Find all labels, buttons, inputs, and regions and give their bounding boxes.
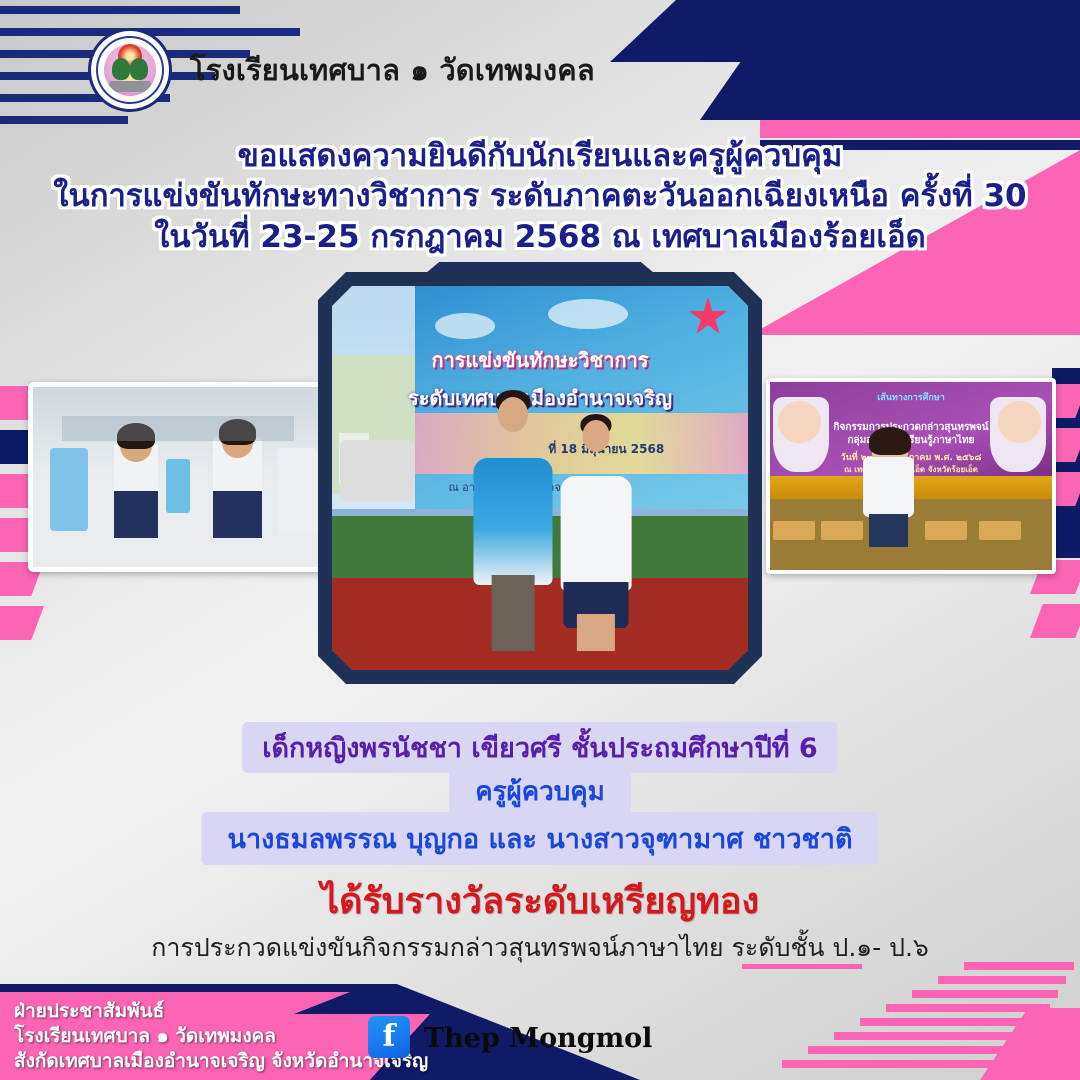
school-name: โรงเรียนเทศบาล ๑ วัดเทพมงคล [190, 47, 595, 93]
photo-center-image: การแข่งขันทักษะวิชาการ ระดับเทศบาลเมืองอ… [332, 286, 748, 670]
facebook-icon[interactable]: f [368, 1016, 410, 1058]
title-line-2: ในการแข่งขันทักษะทางวิชาการ ระดับภาคตะวั… [0, 176, 1080, 216]
right-photo-banner-line2: กลุ่มสาระการเรียนรู้ภาษาไทย [847, 433, 974, 448]
person-teacher [473, 397, 552, 650]
competition-detail-text: การประกวดแข่งขันกิจกรรมกล่าวสุนทรพจน์ภาษ… [151, 928, 929, 968]
footer-credit-block: ฝ่ายประชาสัมพันธ์ โรงเรียนเทศบาล ๑ วัดเท… [14, 999, 428, 1074]
person-student [561, 420, 632, 650]
poster-title: ขอแสดงความยินดีกับนักเรียนและครูผู้ควบคุ… [0, 136, 1080, 257]
footer-line-3: สังกัดเทศบาลเมืองอำนาจเจริญ จังหวัดอำนาจ… [14, 1049, 428, 1074]
school-seal-icon [88, 28, 172, 112]
photo-teacher-and-student: การแข่งขันทักษะวิชาการ ระดับเทศบาลเมืองอ… [318, 272, 762, 684]
photo-students-seated [28, 382, 328, 572]
title-line-1: ขอแสดงความยินดีกับนักเรียนและครูผู้ควบคุ… [0, 136, 1080, 176]
poster-header: โรงเรียนเทศบาล ๑ วัดเทพมงคล [88, 28, 595, 112]
teacher-names-bar: นางธมลพรรณ บุญกอ และ นางสาวจุฑามาศ ชาวชา… [202, 812, 879, 865]
footer-line-1: ฝ่ายประชาสัมพันธ์ [14, 999, 428, 1024]
top-navy-step-shape [610, 0, 830, 62]
right-photo-banner-title: เส้นทางการศึกษา [877, 390, 945, 404]
student-name-bar: เด็กหญิงพรนัชชา เขียวศรี ชั้นประถมศึกษาป… [242, 722, 837, 773]
poster-canvas: โรงเรียนเทศบาล ๑ วัดเทพมงคล ขอแสดงความยิ… [0, 0, 1080, 1080]
facebook-glyph: f [383, 1019, 396, 1054]
teacher-label-bar: ครูผู้ควบคุม [449, 768, 631, 815]
facebook-page-name[interactable]: Thep Mongmol [424, 1023, 652, 1054]
center-photo-banner-line1: การแข่งขันทักษะวิชาการ [431, 344, 648, 376]
photo-student-at-banner: เส้นทางการศึกษา กิจกรรมการประกวดกล่าวสุน… [766, 378, 1056, 574]
title-line-3: ในวันที่ 23-25 กรกฎาคม 2568 ณ เทศบาลเมือ… [0, 217, 1080, 257]
footer-line-2: โรงเรียนเทศบาล ๑ วัดเทพมงคล [14, 1024, 428, 1049]
gold-medal-award-text: ได้รับรางวัลระดับเหรียญทอง [321, 872, 759, 929]
